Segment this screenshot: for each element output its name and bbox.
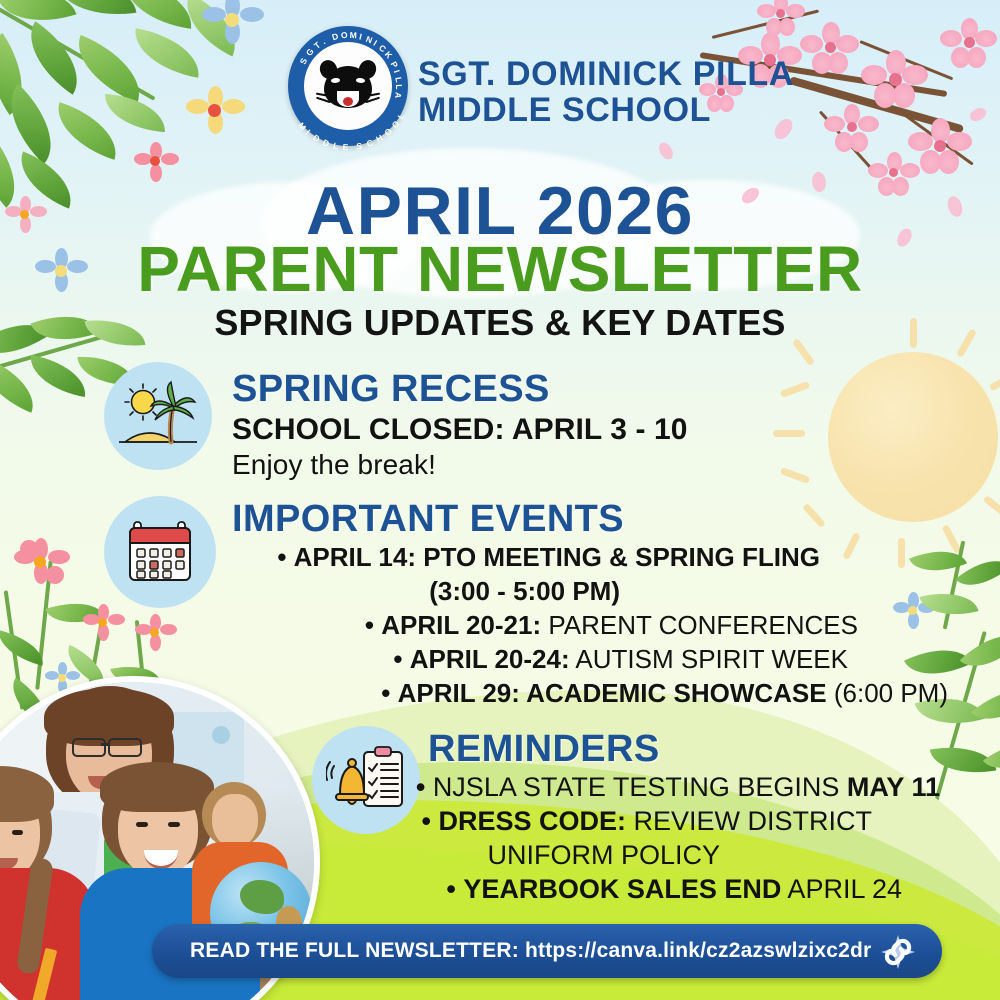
spring-recess-line-2: Enjoy the break! — [232, 449, 436, 481]
cta-label: READ THE FULL NEWSLETTER: — [190, 939, 519, 962]
flower-icon — [192, 88, 238, 134]
section-heading-important-events: IMPORTANT EVENTS — [232, 498, 624, 541]
newsletter-subtitle: SPRING UPDATES & KEY DATES — [0, 302, 1000, 344]
read-newsletter-cta[interactable]: READ THE FULL NEWSLETTER: https://canva.… — [152, 924, 942, 978]
school-logo: S G T . D O M I N I C K P I L L A M I D … — [288, 26, 408, 146]
flower-icon — [208, 0, 256, 44]
newsletter-headline: PARENT NEWSLETTER — [0, 232, 1000, 306]
school-name-line1: SGT. DOMINICK PILLA — [418, 56, 848, 92]
cta-text: READ THE FULL NEWSLETTER: https://canva.… — [190, 939, 871, 963]
section-heading-spring-recess: SPRING RECESS — [232, 368, 550, 411]
list-item: • APRIL 20-24: AUTISM SPIRIT WEEK — [0, 644, 958, 675]
school-name-line2: MIDDLE SCHOOL — [418, 92, 848, 128]
newsletter-poster: S G T . D O M I N I C K P I L L A M I D … — [0, 0, 1000, 1000]
list-item: (3:00 - 5:00 PM) — [0, 576, 958, 607]
school-name: SGT. DOMINICK PILLA MIDDLE SCHOOL — [418, 56, 848, 129]
link-chain-icon — [878, 932, 918, 972]
cta-url[interactable]: https://canva.link/cz2azswlzixc2dr — [525, 939, 871, 962]
spring-recess-line-1: SCHOOL CLOSED: APRIL 3 - 10 — [232, 413, 688, 447]
list-item: • APRIL 20-21: PARENT CONFERENCES — [0, 610, 958, 641]
beach-palm-sun-icon — [104, 362, 212, 470]
section-heading-reminders: REMINDERS — [428, 728, 660, 771]
list-item: • APRIL 14: PTO MEETING & SPRING FLING — [0, 542, 958, 573]
panther-head-icon — [318, 58, 378, 114]
